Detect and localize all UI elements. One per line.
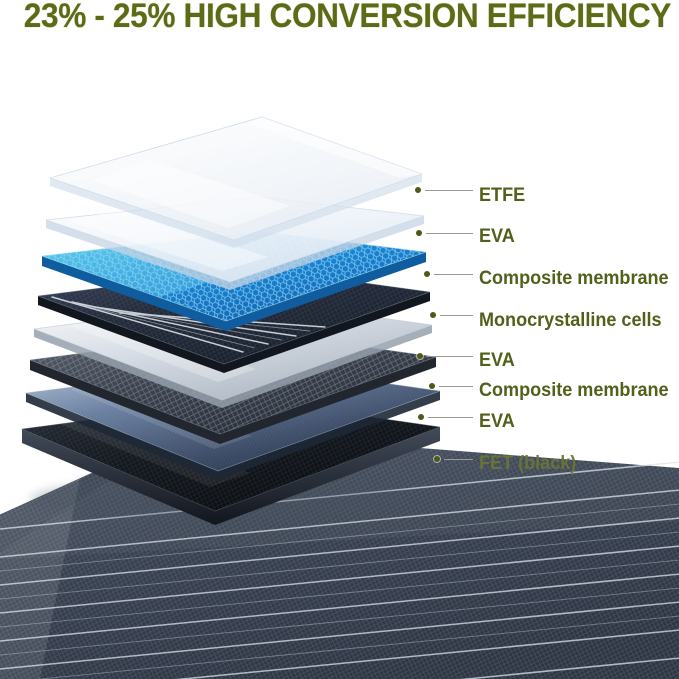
- callout-dot-eva-mid: [417, 353, 423, 359]
- page-title: 23% - 25% HIGH CONVERSION EFFICIENCY: [24, 0, 655, 38]
- callout-leader-monocrystalline-cells: [440, 315, 473, 316]
- callout-leader-pet-black: [444, 459, 473, 460]
- label-eva-bottom: EVA: [479, 412, 515, 431]
- callout-dot-composite-membrane-bottom: [429, 383, 435, 389]
- callout-leader-composite-membrane-top: [434, 274, 473, 275]
- callout-dot-monocrystalline-cells: [430, 312, 436, 318]
- callout-leader-eva-mid: [427, 356, 473, 357]
- callout-leader-etfe: [425, 190, 473, 191]
- callout-dot-eva-top: [416, 230, 422, 236]
- callout-leader-eva-top: [426, 233, 473, 234]
- callout-dot-etfe: [415, 187, 421, 193]
- label-monocrystalline-cells: Monocrystalline cells: [479, 311, 662, 330]
- callout-dot-composite-membrane-top: [424, 271, 430, 277]
- label-etfe: ETFE: [479, 186, 525, 205]
- callout-dot-eva-bottom: [418, 414, 424, 420]
- label-eva-top: EVA: [479, 227, 515, 246]
- label-composite-membrane-top: Composite membrane: [479, 269, 669, 288]
- callout-leader-eva-bottom: [428, 417, 473, 418]
- exploded-layer-illustration: [0, 0, 679, 679]
- label-composite-membrane-bottom: Composite membrane: [479, 381, 669, 400]
- label-pet-black: FET (black): [479, 454, 576, 473]
- callout-dot-pet-black: [434, 456, 440, 462]
- label-eva-mid: EVA: [479, 351, 515, 370]
- solar-panel-infographic: 23% - 25% HIGH CONVERSION EFFICIENCY ETF…: [0, 0, 679, 679]
- callout-leader-composite-membrane-bottom: [439, 386, 473, 387]
